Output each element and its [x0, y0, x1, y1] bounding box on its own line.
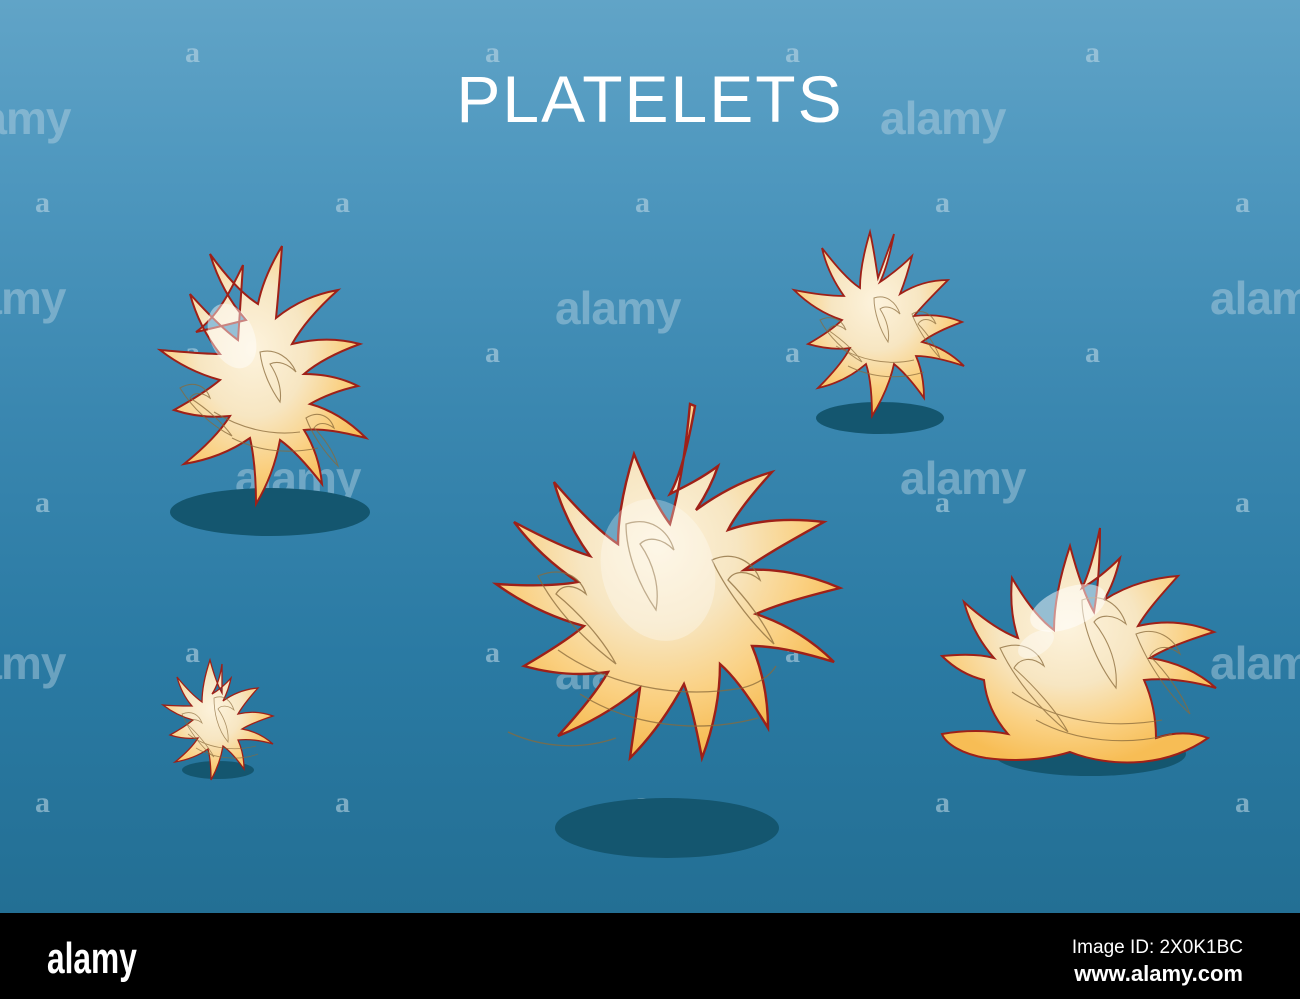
watermark-letter: a: [485, 338, 500, 368]
watermark-letter: a: [1235, 188, 1250, 218]
watermark-letter: a: [35, 788, 50, 818]
page-title: PLATELETS: [0, 66, 1300, 132]
watermark-letter: a: [635, 188, 650, 218]
platelet-center: [412, 398, 882, 868]
watermark-letter: a: [935, 488, 950, 518]
platelet-top-left: [110, 240, 430, 550]
illustration-canvas: aaaaaaaaaaaaaaaaaaaaaaaaaaaaaaaalamyalam…: [0, 0, 1300, 913]
cell-shadow: [555, 798, 779, 858]
alamy-logo: alamy: [47, 937, 137, 981]
website-url: www.alamy.com: [1074, 961, 1243, 987]
watermark-letter: a: [35, 188, 50, 218]
watermark-wordmark: alamy: [0, 275, 65, 321]
watermark-letter: a: [335, 188, 350, 218]
watermark-letter: a: [1085, 338, 1100, 368]
watermark-letter: a: [1235, 788, 1250, 818]
screenshot-root: aaaaaaaaaaaaaaaaaaaaaaaaaaaaaaaalamyalam…: [0, 0, 1300, 999]
watermark-wordmark: alamy: [1210, 275, 1300, 321]
watermark-letter: a: [935, 188, 950, 218]
watermark-letter: a: [335, 788, 350, 818]
watermark-wordmark: alamy: [555, 285, 680, 331]
watermark-letter: a: [185, 38, 200, 68]
platelet-bottom-left: [152, 658, 282, 788]
cell-body: [160, 246, 366, 504]
cell-shadow: [170, 488, 370, 536]
watermark-letter: a: [1235, 488, 1250, 518]
watermark-wordmark: alamy: [0, 640, 65, 686]
footer-bar: alamy Image ID: 2X0K1BC www.alamy.com: [0, 913, 1300, 999]
image-id-label: Image ID: 2X0K1BC: [1072, 937, 1243, 959]
platelet-bottom-right: [940, 522, 1230, 802]
cell-body: [163, 660, 273, 780]
watermark-wordmark: alamy: [900, 455, 1025, 501]
watermark-letter: a: [35, 488, 50, 518]
watermark-letter: a: [1085, 38, 1100, 68]
